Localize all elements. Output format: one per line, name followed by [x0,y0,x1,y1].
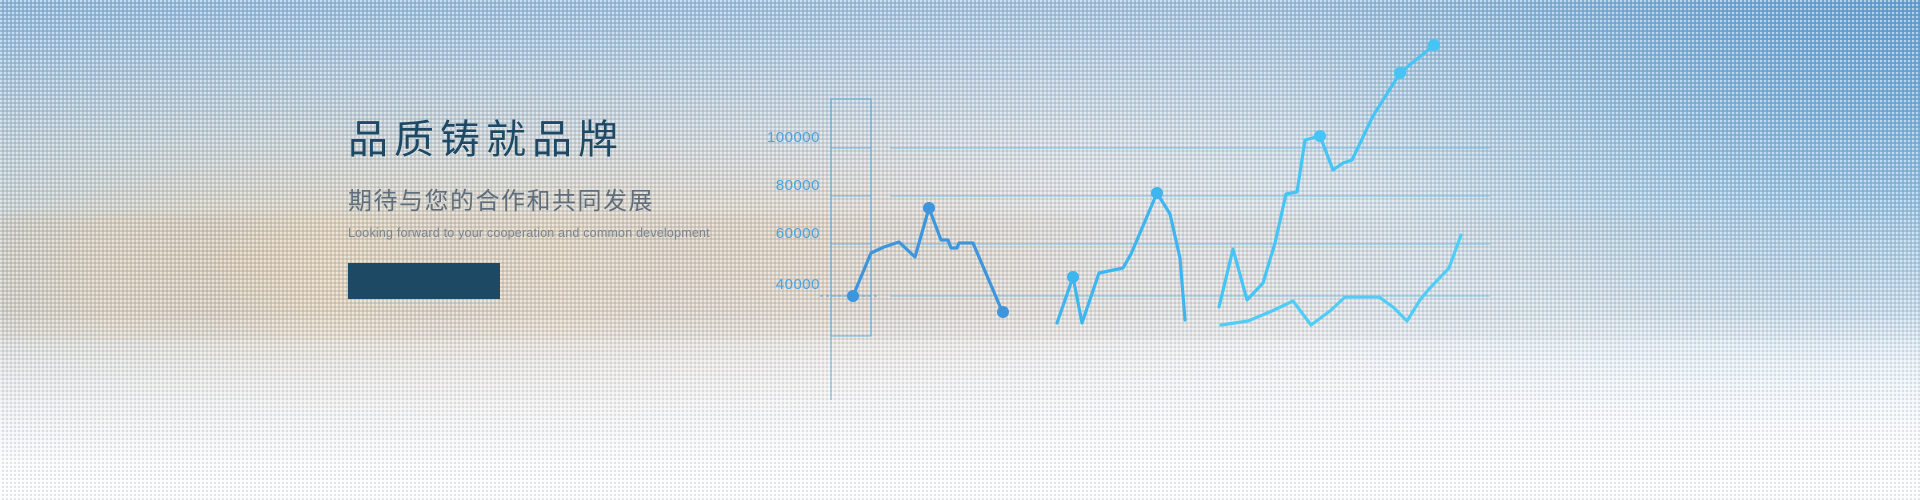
chart-series-line [1219,45,1434,307]
chart-series-line [1057,193,1185,323]
chart-ytick-label: 100000 [767,129,820,146]
chart-ytick-label: 60000 [776,225,820,242]
chart-data-point[interactable] [1314,130,1326,142]
line-chart: 100000800006000040000 [740,0,1920,500]
chart-series-line [1221,235,1461,325]
chart-data-point[interactable] [1067,271,1079,283]
page-title: 品质铸就品牌 [348,118,768,162]
chart-series [1219,39,1440,307]
chart-canvas: 100000800006000040000 [740,0,1920,500]
chart-ytick-label: 40000 [776,276,820,293]
hero-banner: 品质铸就品牌 期待与您的合作和共同发展 Looking forward to y… [0,0,1920,500]
chart-data-point[interactable] [1428,39,1440,51]
hero-subtitle-english: Looking forward to your cooperation and … [348,225,768,241]
chart-series [1057,187,1185,323]
hero-subtitle: 期待与您的合作和共同发展 [348,188,768,217]
chart-data-point[interactable] [847,290,859,302]
chart-data-point[interactable] [997,306,1009,318]
cta-button[interactable] [348,263,500,299]
hero-text-block: 品质铸就品牌 期待与您的合作和共同发展 Looking forward to y… [348,118,768,299]
chart-ytick-label: 80000 [776,177,820,194]
chart-data-point[interactable] [1151,187,1163,199]
chart-data-point[interactable] [923,202,935,214]
chart-series [1221,235,1461,325]
chart-data-point[interactable] [1394,67,1406,79]
